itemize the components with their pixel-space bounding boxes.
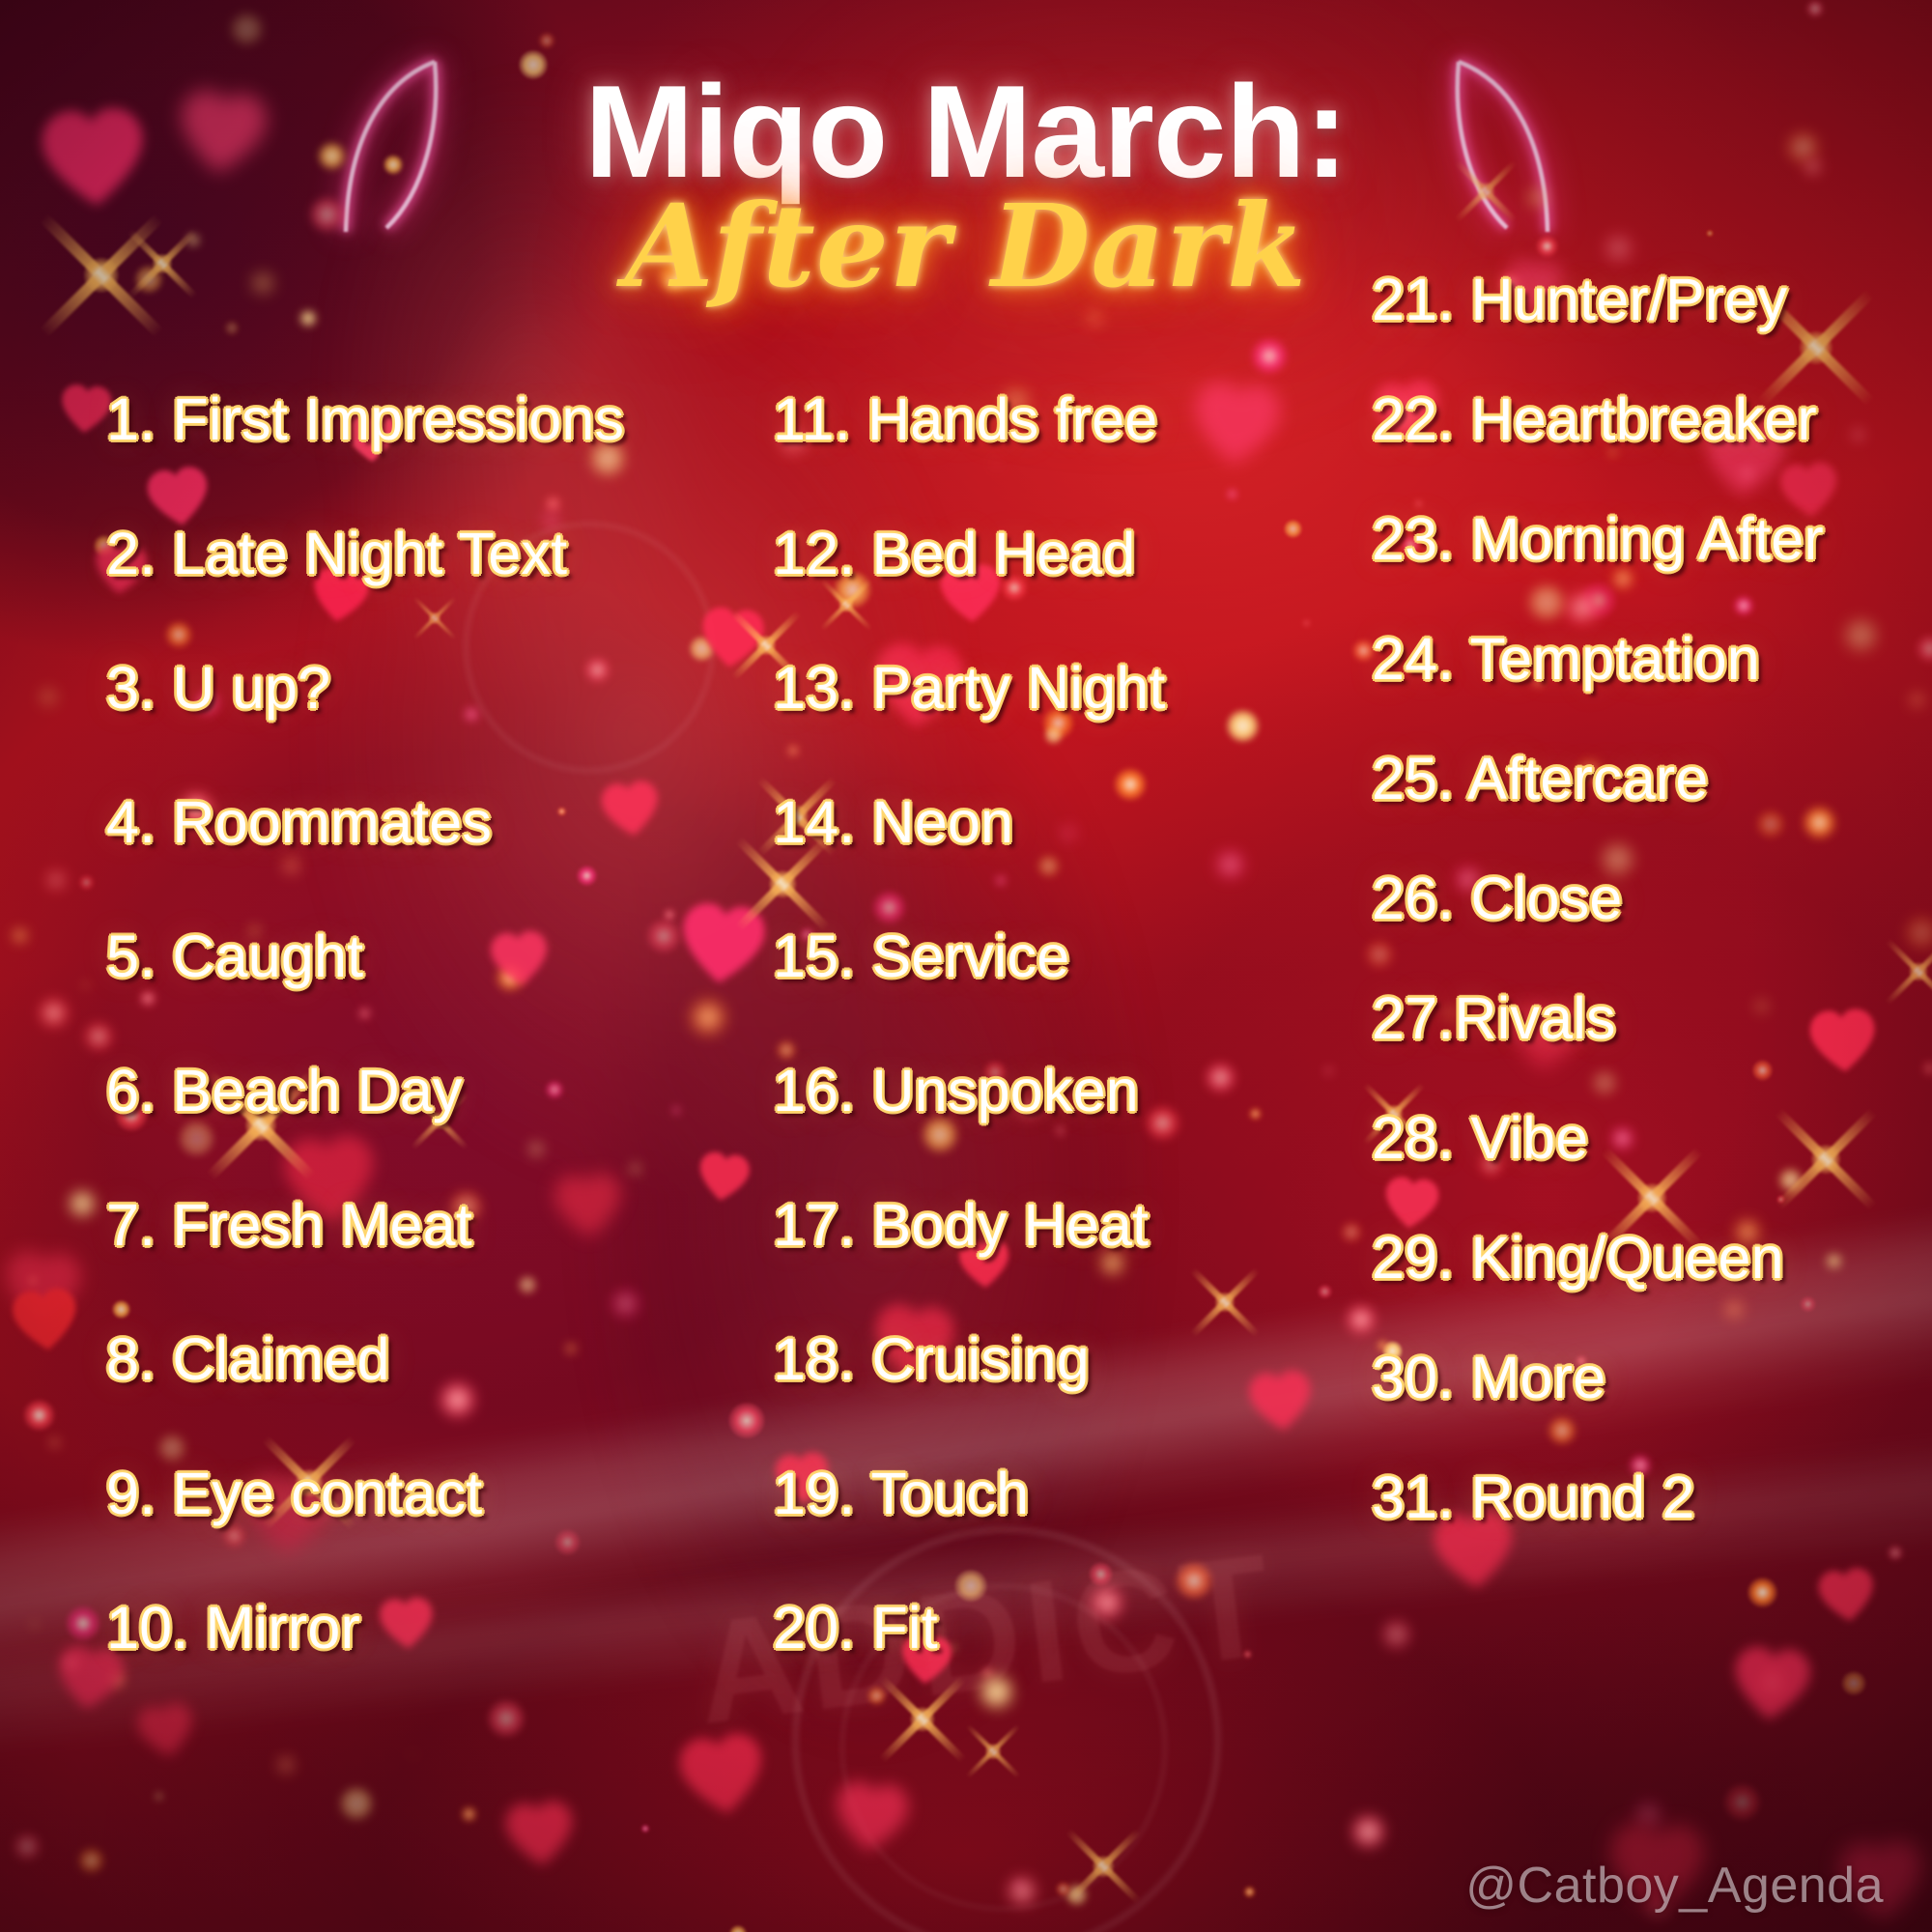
list-item: 13. Party Night bbox=[773, 657, 1165, 719]
list-item: 6. Beach Day bbox=[106, 1060, 463, 1122]
list-item: 30. More bbox=[1372, 1347, 1605, 1408]
list-item: 12. Bed Head bbox=[773, 523, 1135, 584]
poster-canvas: ADDICT Miqo March: After Da bbox=[0, 0, 1932, 1932]
prompt-columns: 1. First Impressions2. Late Night Text3.… bbox=[0, 0, 1932, 1932]
list-item: 17. Body Heat bbox=[773, 1194, 1149, 1256]
list-item: 2. Late Night Text bbox=[106, 523, 567, 584]
list-item: 31. Round 2 bbox=[1372, 1466, 1695, 1528]
list-item: 24. Temptation bbox=[1372, 628, 1760, 690]
list-item: 15. Service bbox=[773, 925, 1069, 987]
list-item: 9. Eye contact bbox=[106, 1463, 482, 1524]
list-item: 18. Cruising bbox=[773, 1328, 1090, 1390]
list-item: 11. Hands free bbox=[773, 388, 1157, 450]
list-item: 29. King/Queen bbox=[1372, 1227, 1784, 1289]
list-item: 28. Vibe bbox=[1372, 1107, 1588, 1169]
list-item: 21. Hunter/Prey bbox=[1372, 269, 1787, 330]
list-item: 14. Neon bbox=[773, 791, 1013, 853]
list-item: 26. Close bbox=[1372, 867, 1623, 929]
list-item: 4. Roommates bbox=[106, 791, 492, 853]
list-item: 1. First Impressions bbox=[106, 388, 624, 450]
list-item: 5. Caught bbox=[106, 925, 363, 987]
list-item: 22. Heartbreaker bbox=[1372, 388, 1817, 450]
list-item: 19. Touch bbox=[773, 1463, 1029, 1524]
list-item: 10. Mirror bbox=[106, 1597, 360, 1659]
list-item: 7. Fresh Meat bbox=[106, 1194, 472, 1256]
list-item: 27.Rivals bbox=[1372, 987, 1616, 1049]
list-item: 8. Claimed bbox=[106, 1328, 390, 1390]
list-item: 16. Unspoken bbox=[773, 1060, 1139, 1122]
author-watermark: @Catboy_Agenda bbox=[1465, 1857, 1884, 1915]
poster-content: Miqo March: After Dark 1. First Impressi… bbox=[0, 0, 1932, 1932]
list-item: 20. Fit bbox=[773, 1597, 938, 1659]
list-item: 3. U up? bbox=[106, 657, 330, 719]
list-item: 25. Aftercare bbox=[1372, 748, 1708, 810]
list-item: 23. Morning After bbox=[1372, 508, 1824, 570]
